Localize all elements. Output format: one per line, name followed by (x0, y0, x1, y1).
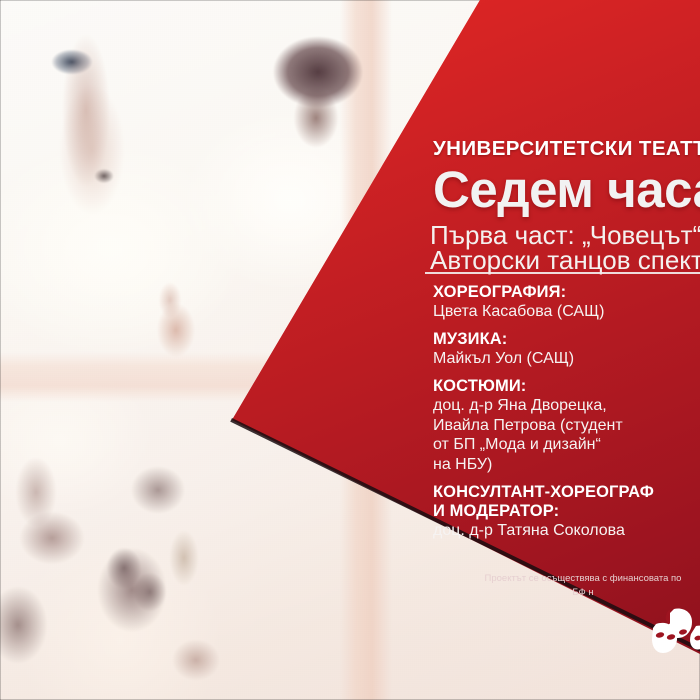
funding-note: Проектът се осъществява с финансовата по… (433, 572, 700, 600)
poster-subtitle-genre: Авторски танцов спектакъл (430, 247, 700, 274)
credits-list: ХОРЕОГРАФИЯ: Цвета Касабова (САЩ) МУЗИКА… (433, 283, 700, 549)
credit-item: КОСТЮМИ: доц. д-р Яна Дворецка, Ивайла П… (433, 377, 700, 475)
credit-name-value: доц. д-р Татяна Соколова (433, 521, 700, 541)
credit-item: МУЗИКА: Майкъл Уол (САЩ) (433, 330, 700, 369)
poster: УНИВЕРСИТЕТСКИ ТЕАТЪР Седем часа Първа ч… (0, 0, 700, 700)
poster-kicker: УНИВЕРСИТЕТСКИ ТЕАТЪР (433, 137, 700, 161)
credit-role-label: КОСТЮМИ: (433, 377, 700, 396)
funding-note-line2: БФ н (433, 586, 700, 600)
credit-name-value: доц. д-р Яна Дворецка, Ивайла Петрова (с… (433, 396, 700, 474)
title-divider-rule (425, 272, 700, 274)
poster-title: Седем часа (433, 164, 700, 215)
theatre-masks-logo (652, 608, 700, 654)
credit-name-value: Майкъл Уол (САЩ) (433, 349, 700, 369)
funding-note-line1: Проектът се осъществява с финансовата по (485, 573, 682, 584)
credit-role-label: КОНСУЛТАНТ-ХОРЕОГРАФ И МОДЕРАТОР: (433, 483, 700, 522)
credit-item: ХОРЕОГРАФИЯ: Цвета Касабова (САЩ) (433, 283, 700, 322)
credit-item: КОНСУЛТАНТ-ХОРЕОГРАФ И МОДЕРАТОР: доц. д… (433, 483, 700, 541)
credit-role-label: ХОРЕОГРАФИЯ: (433, 283, 700, 302)
credit-name-value: Цвета Касабова (САЩ) (433, 302, 700, 322)
credit-role-label: МУЗИКА: (433, 330, 700, 349)
poster-content: УНИВЕРСИТЕТСКИ ТЕАТЪР Седем часа Първа ч… (0, 0, 700, 700)
